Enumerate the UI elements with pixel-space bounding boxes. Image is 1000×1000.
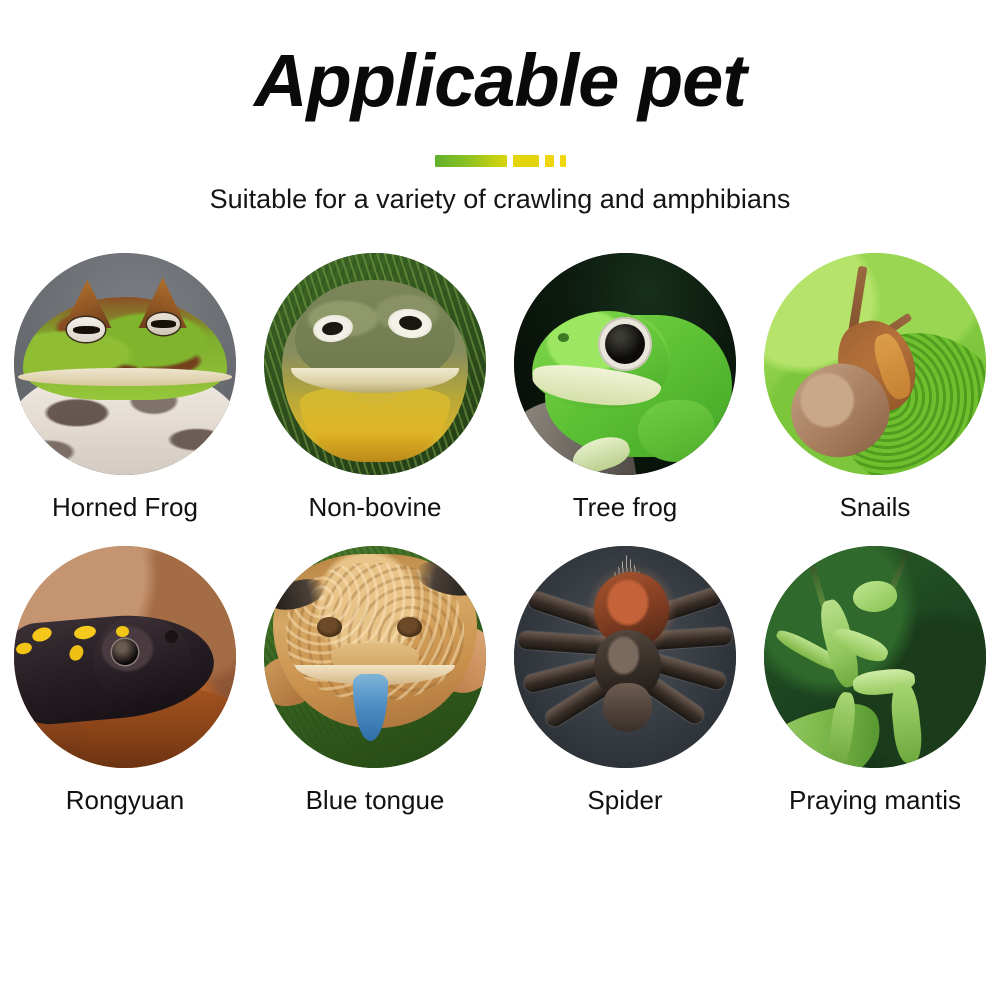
pet-label: Praying mantis xyxy=(789,786,961,815)
divider-decoration xyxy=(0,154,1000,167)
pet-cell-snails: Snails xyxy=(750,253,1000,522)
pet-cell-non-bovine: Non-bovine xyxy=(250,253,500,522)
pet-cell-blue-tongue: Blue tongue xyxy=(250,546,500,815)
tarantula-photo xyxy=(514,546,736,768)
page-header: Applicable pet Suitable for a variety of… xyxy=(0,0,1000,215)
praying-mantis-photo xyxy=(764,546,986,768)
divider-bar-medium xyxy=(513,155,539,167)
pet-label: Horned Frog xyxy=(52,493,198,522)
horned-frog-photo xyxy=(14,253,236,475)
pet-label: Non-bovine xyxy=(309,493,442,522)
snail-photo xyxy=(764,253,986,475)
pet-cell-praying-mantis: Praying mantis xyxy=(750,546,1000,815)
pet-label: Tree frog xyxy=(573,493,678,522)
pet-cell-spider: Spider xyxy=(500,546,750,815)
pet-label: Blue tongue xyxy=(306,786,445,815)
page-title: Applicable pet xyxy=(0,44,1000,118)
divider-bar-small xyxy=(545,155,554,167)
salamander-photo xyxy=(14,546,236,768)
divider-bar-gradient xyxy=(435,155,507,167)
pet-cell-tree-frog: Tree frog xyxy=(500,253,750,522)
pet-cell-horned-frog: Horned Frog xyxy=(0,253,250,522)
pet-label: Snails xyxy=(840,493,911,522)
divider-bar-tiny xyxy=(560,155,566,167)
pet-grid: Horned Frog Non-bovine Tree frog xyxy=(0,253,1000,814)
pet-cell-rongyuan: Rongyuan xyxy=(0,546,250,815)
page-subtitle: Suitable for a variety of crawling and a… xyxy=(0,167,1000,215)
bullfrog-photo xyxy=(264,253,486,475)
tree-frog-photo xyxy=(514,253,736,475)
pet-label: Spider xyxy=(587,786,662,815)
pet-label: Rongyuan xyxy=(66,786,185,815)
blue-tongue-skink-photo xyxy=(264,546,486,768)
